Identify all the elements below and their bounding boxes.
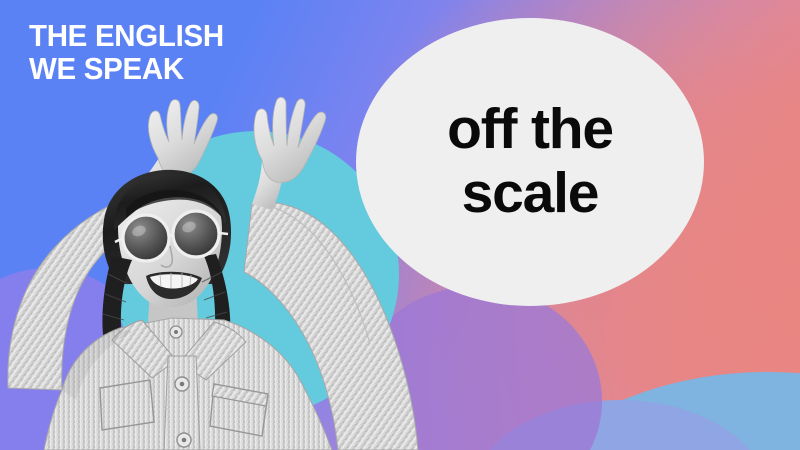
presenter-photo [0, 88, 430, 450]
programme-title: THE ENGLISH WE SPEAK [29, 19, 224, 86]
video-thumbnail: THE ENGLISH WE SPEAK [0, 0, 800, 450]
